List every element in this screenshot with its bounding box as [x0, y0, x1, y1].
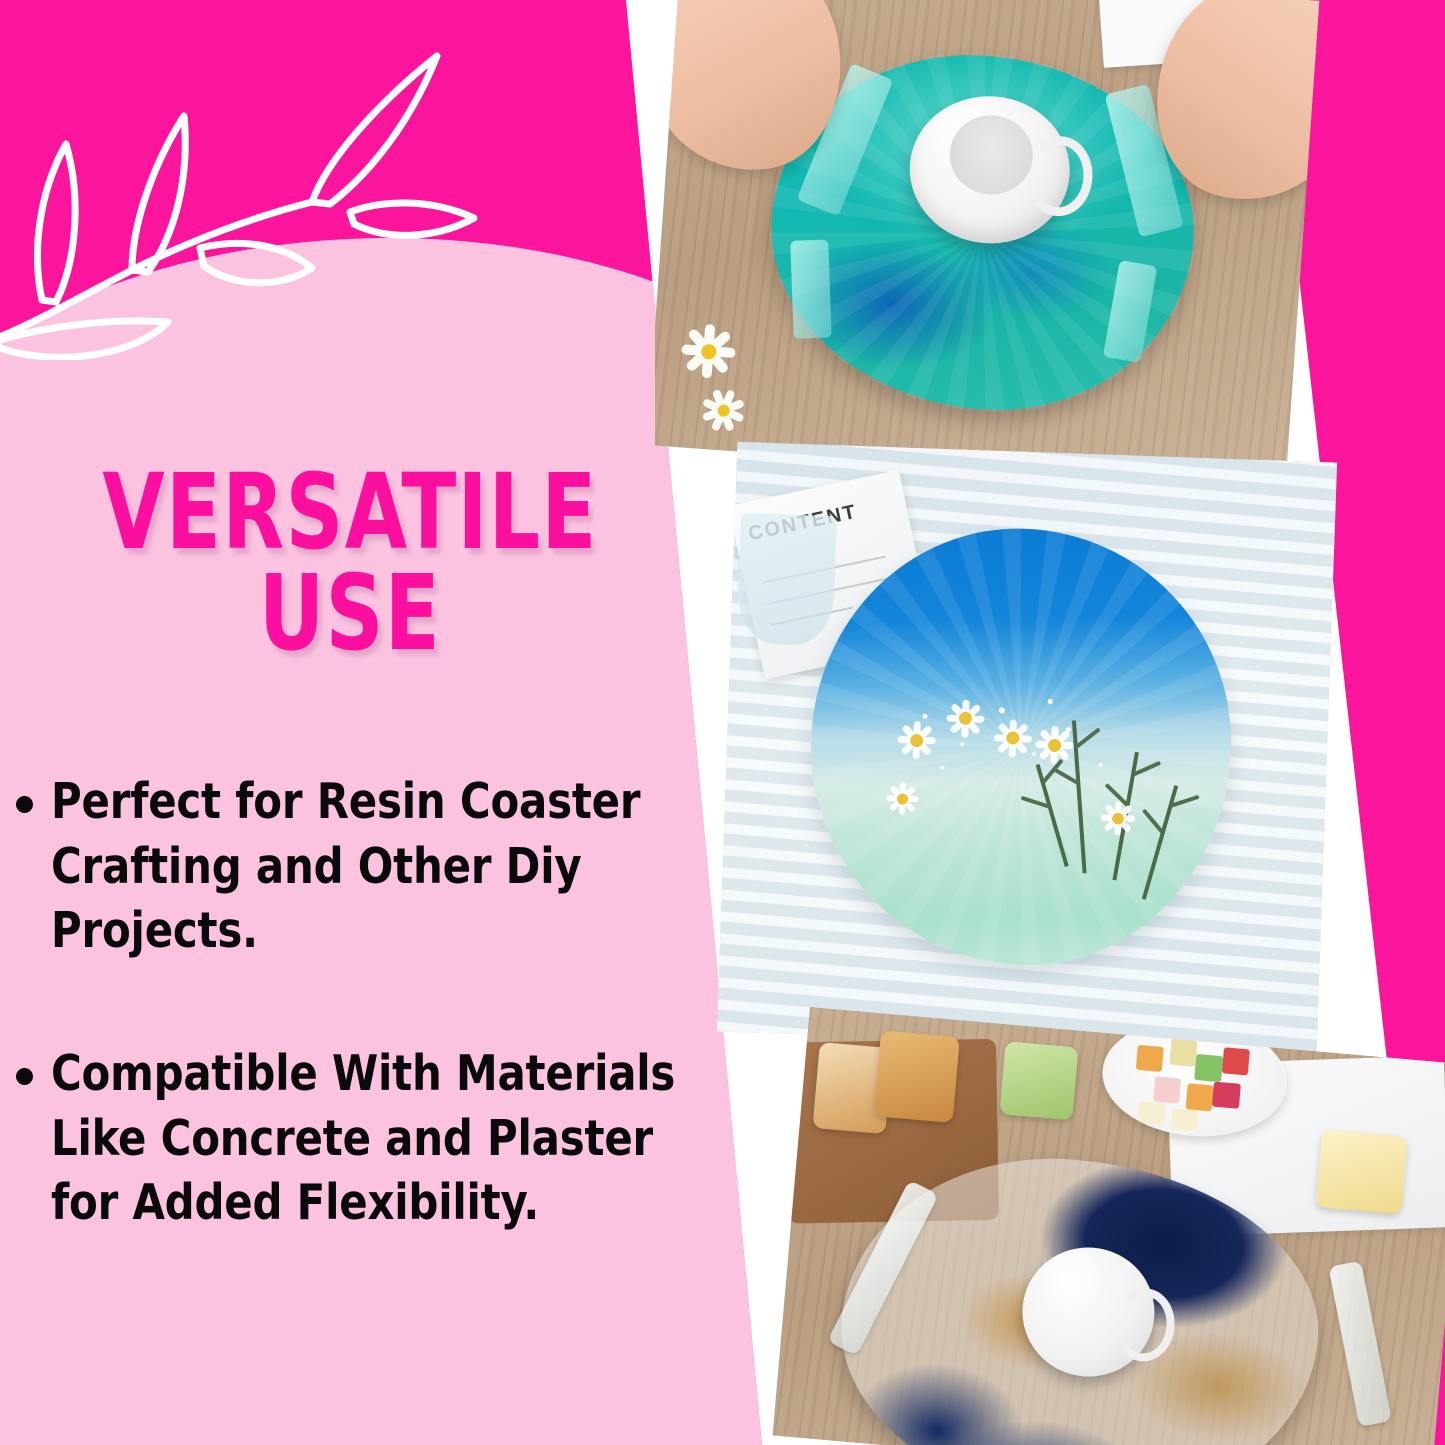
daisy-flower-icon: [677, 320, 739, 382]
headline: VERSATILE USE: [0, 462, 700, 664]
product-photo-strip: CONTENT: [655, 0, 1445, 1445]
pressed-daisy-icon: [894, 719, 937, 762]
bullet-dot-icon: [16, 796, 33, 813]
headline-line-1: VERSATILE: [49, 462, 651, 563]
photo-demolding-teal-tray: [655, 0, 1319, 490]
product-feature-graphic: VERSATILE USE Perfect for Resin Coaster …: [0, 0, 1445, 1445]
list-item: Perfect for Resin Coaster Crafting and O…: [16, 770, 736, 964]
daisy-flower-icon: [698, 386, 748, 436]
bullet-text: Perfect for Resin Coaster Crafting and O…: [51, 770, 702, 964]
bullet-text: Compatible With Materials Like Concrete …: [51, 1042, 702, 1236]
bullet-dot-icon: [16, 1068, 33, 1085]
photo-pressed-flower-tray: CONTENT: [717, 442, 1337, 1053]
pressed-daisy-icon: [1032, 724, 1075, 767]
list-item: Compatible With Materials Like Concrete …: [16, 1042, 736, 1236]
headline-line-2: USE: [49, 563, 651, 664]
pressed-daisy-icon: [884, 781, 921, 818]
pressed-daisy-icon: [1098, 799, 1137, 838]
pressed-daisy-icon: [943, 697, 986, 740]
pressed-daisy-icon: [991, 716, 1034, 759]
feature-bullet-list: Perfect for Resin Coaster Crafting and O…: [16, 770, 736, 1314]
photo-geode-tray-desserts: [773, 1007, 1445, 1445]
